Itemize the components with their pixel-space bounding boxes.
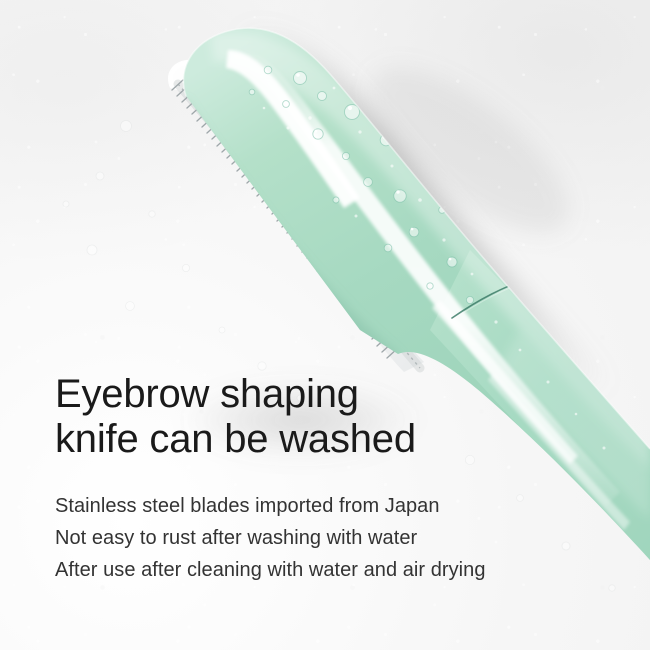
feature-list: Stainless steel blades imported from Jap… — [55, 490, 575, 586]
product-image-canvas: Eyebrow shaping knife can be washed Stai… — [0, 0, 650, 650]
page-title: Eyebrow shaping knife can be washed — [55, 372, 575, 462]
list-item: Stainless steel blades imported from Jap… — [55, 490, 575, 522]
list-item: After use after cleaning with water and … — [55, 554, 575, 586]
list-item: Not easy to rust after washing with wate… — [55, 522, 575, 554]
marketing-copy-block: Eyebrow shaping knife can be washed Stai… — [55, 372, 575, 586]
